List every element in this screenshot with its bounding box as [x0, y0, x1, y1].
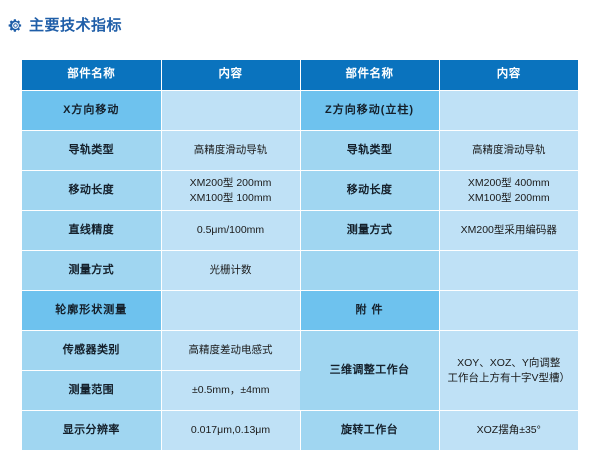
part-value-right: [439, 91, 578, 131]
part-value-right: XOZ摆角±35°: [439, 411, 578, 451]
table-row: 显示分辨率0.017μm,0.13μm旋转工作台XOZ摆角±35°: [22, 411, 578, 451]
part-name-right: [300, 251, 439, 291]
table-header: 部件名称 内容 部件名称 内容: [22, 60, 578, 91]
part-value-left: 高精度滑动导轨: [161, 131, 300, 171]
value-line: XM200型 200mm: [162, 176, 300, 190]
multiline-value: XM200型 200mmXM100型 100mm: [162, 176, 300, 204]
column-header-right-name: 部件名称: [300, 60, 439, 91]
part-value-right: XOY、XOZ、Y向调整工作台上方有十字V型槽）: [439, 331, 578, 411]
part-value-right: [439, 291, 578, 331]
part-name-left: 显示分辨率: [22, 411, 161, 451]
column-header-left-name: 部件名称: [22, 60, 161, 91]
part-value-right: [439, 251, 578, 291]
table-row: 直线精度0.5μm/100mm测量方式XM200型采用编码器: [22, 211, 578, 251]
table-row: 测量方式光栅计数: [22, 251, 578, 291]
part-value-right: 高精度滑动导轨: [439, 131, 578, 171]
part-value-left: XM200型 200mmXM100型 100mm: [161, 171, 300, 211]
part-name-right: 旋转工作台: [300, 411, 439, 451]
section-label-left: X方向移动: [22, 91, 161, 131]
page-title-bar: 主要技术指标: [0, 0, 600, 36]
part-value-left: 0.5μm/100mm: [161, 211, 300, 251]
part-name-left: 移动长度: [22, 171, 161, 211]
part-value-left: 光栅计数: [161, 251, 300, 291]
part-name-left: 测量范围: [22, 371, 161, 411]
table-row: X方向移动Z方向移动(立柱): [22, 91, 578, 131]
part-value-left: [161, 91, 300, 131]
part-name-right: 导轨类型: [300, 131, 439, 171]
table-row: 轮廓形状测量附 件: [22, 291, 578, 331]
section-label-left: 轮廓形状测量: [22, 291, 161, 331]
spec-table: 部件名称 内容 部件名称 内容 X方向移动Z方向移动(立柱)导轨类型高精度滑动导…: [22, 60, 578, 451]
column-header-right-value: 内容: [439, 60, 578, 91]
part-name-right: 测量方式: [300, 211, 439, 251]
value-line: XM100型 100mm: [162, 191, 300, 205]
part-name-left: 导轨类型: [22, 131, 161, 171]
part-value-right: XM200型采用编码器: [439, 211, 578, 251]
column-header-left-value: 内容: [161, 60, 300, 91]
page-title: 主要技术指标: [29, 18, 122, 33]
part-value-left: [161, 291, 300, 331]
part-name-left: 测量方式: [22, 251, 161, 291]
gear-icon: [8, 18, 23, 33]
value-line: 工作台上方有十字V型槽）: [440, 371, 579, 385]
multiline-value: XM200型 400mmXM100型 200mm: [440, 176, 579, 204]
value-line: XM200型 400mm: [440, 176, 579, 190]
table-row: 导轨类型高精度滑动导轨导轨类型高精度滑动导轨: [22, 131, 578, 171]
spec-page: 主要技术指标 部件名称 内容 部件名称 内容 X方向移动Z方向移动(立柱)导轨类…: [0, 0, 600, 450]
section-label-right: 附 件: [300, 291, 439, 331]
multiline-value: XOY、XOZ、Y向调整工作台上方有十字V型槽）: [440, 356, 579, 384]
spec-table-wrap: 部件名称 内容 部件名称 内容 X方向移动Z方向移动(立柱)导轨类型高精度滑动导…: [22, 60, 578, 451]
part-value-left: ±0.5mm，±4mm: [161, 371, 300, 411]
value-line: XOY、XOZ、Y向调整: [440, 356, 579, 370]
part-name-right: 三维调整工作台: [300, 331, 439, 411]
part-name-left: 传感器类别: [22, 331, 161, 371]
part-name-left: 直线精度: [22, 211, 161, 251]
table-header-row: 部件名称 内容 部件名称 内容: [22, 60, 578, 91]
part-name-right: 移动长度: [300, 171, 439, 211]
value-line: XM100型 200mm: [440, 191, 579, 205]
part-value-right: XM200型 400mmXM100型 200mm: [439, 171, 578, 211]
table-row: 移动长度XM200型 200mmXM100型 100mm移动长度XM200型 4…: [22, 171, 578, 211]
table-row: 传感器类别高精度差动电感式三维调整工作台XOY、XOZ、Y向调整工作台上方有十字…: [22, 331, 578, 371]
part-value-left: 高精度差动电感式: [161, 331, 300, 371]
table-body: X方向移动Z方向移动(立柱)导轨类型高精度滑动导轨导轨类型高精度滑动导轨移动长度…: [22, 91, 578, 451]
section-label-right: Z方向移动(立柱): [300, 91, 439, 131]
part-value-left: 0.017μm,0.13μm: [161, 411, 300, 451]
